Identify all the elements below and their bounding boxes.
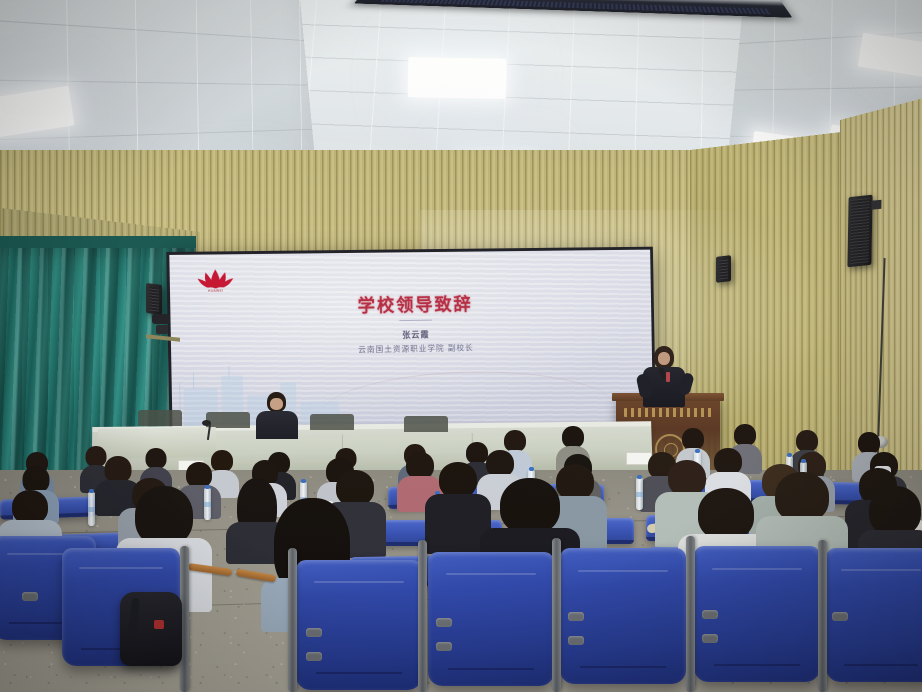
audience-person	[428, 462, 488, 550]
seat-post	[818, 540, 827, 692]
seat-hinge	[306, 628, 322, 637]
water-bottle	[88, 492, 95, 526]
wall-mounted-camera-rig	[150, 314, 176, 336]
seat-hinge	[702, 634, 718, 643]
seat-hinge	[22, 592, 38, 601]
auditorium-seat[interactable]	[560, 548, 686, 684]
head-table-chair	[404, 416, 448, 432]
head-table-chair	[138, 410, 182, 426]
seat-hinge	[306, 652, 322, 661]
projection-screen-frame: HUAWEI 学校领导致辞 张云霞 云南国土资源职业学院 副校长	[166, 247, 656, 440]
auditorium-seat[interactable]	[428, 552, 554, 686]
speaker-bracket	[871, 200, 881, 210]
head-table-chair	[206, 412, 250, 428]
seat-post	[686, 536, 695, 692]
auditorium-seat[interactable]	[826, 548, 922, 682]
head-table-chair	[310, 414, 354, 430]
seat-hinge	[436, 618, 452, 627]
ceiling-light	[408, 57, 507, 99]
black-backpack-on-floor	[120, 592, 182, 666]
seat-hinge	[436, 642, 452, 651]
seat-hinge	[702, 610, 718, 619]
seat-post	[418, 540, 427, 692]
seat-hinge	[568, 612, 584, 621]
projection-screen: HUAWEI 学校领导致辞 张云霞 云南国土资源职业学院 副校长	[169, 250, 653, 437]
huawei-logo-icon: HUAWEI	[191, 266, 239, 293]
auditorium-seat[interactable]	[694, 546, 820, 682]
presenter-lapel-pin	[666, 372, 670, 382]
wall-speaker-left	[146, 283, 162, 315]
podium-inscription	[624, 408, 712, 417]
huawei-wordmark: HUAWEI	[208, 289, 223, 293]
water-bottle	[636, 478, 643, 510]
seat-hinge	[832, 612, 848, 621]
lecture-hall-photograph: HUAWEI 学校领导致辞 张云霞 云南国土资源职业学院 副校长	[0, 0, 922, 692]
wall-speaker-right	[716, 255, 731, 283]
seat-hinge	[568, 636, 584, 645]
wall-speaker-right-large	[847, 195, 872, 268]
presenter-face	[658, 352, 670, 365]
seat-post	[552, 538, 561, 692]
seated-man-head-table	[254, 392, 300, 436]
auditorium-seat[interactable]	[296, 560, 422, 690]
presenter-at-podium	[632, 346, 696, 404]
seat-post	[288, 548, 297, 692]
